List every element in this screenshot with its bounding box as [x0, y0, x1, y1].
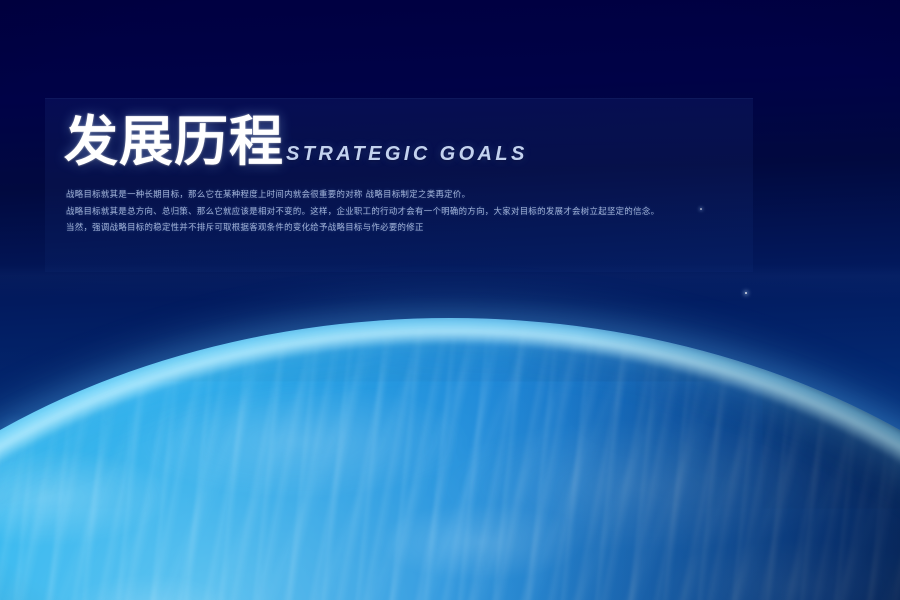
body-line: 战略目标就其是一种长期目标，那么它在某种程度上时间内就会很重要的对称 战略目标制… — [66, 186, 766, 203]
body-line: 战略目标就其是总方向、总归策、那么它就应该是相对不变的。这样，企业职工的行动才会… — [66, 203, 766, 220]
earth-from-orbit — [0, 0, 900, 600]
body-line: 当然，强调战略目标的稳定性并不排斥可取根据客观条件的变化给予战略目标与作必要的修… — [66, 219, 766, 236]
page-title: 发展历程 — [64, 112, 284, 170]
banner-stage: 发展历程 STRATEGIC GOALS 战略目标就其是一种长期目标，那么它在某… — [0, 0, 900, 600]
banner-heading: 发展历程 STRATEGIC GOALS — [64, 112, 528, 170]
page-subtitle: STRATEGIC GOALS — [286, 143, 528, 165]
banner-body-copy: 战略目标就其是一种长期目标，那么它在某种程度上时间内就会很重要的对称 战略目标制… — [66, 186, 766, 236]
